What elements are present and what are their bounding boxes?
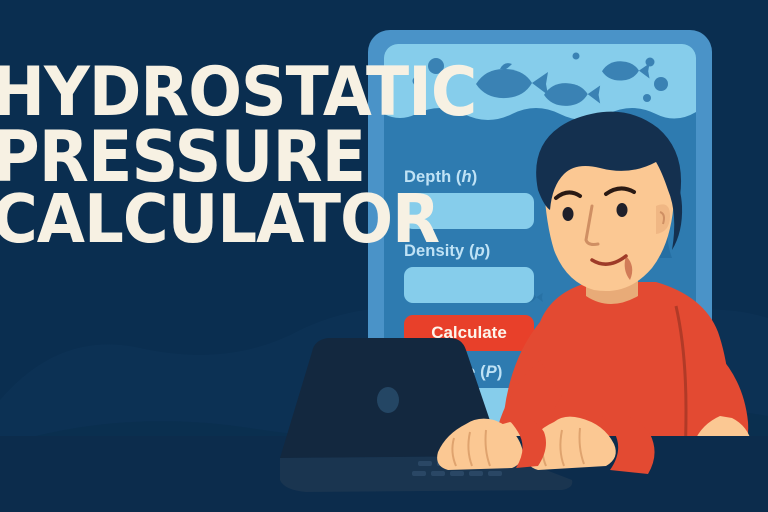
page-title: HYDROSTATIC PRESSURE CALCULATOR: [0, 62, 372, 251]
title-line-3: CALCULATOR: [0, 189, 345, 251]
illustration-canvas: HYDROSTATIC PRESSURE CALCULATOR: [0, 0, 768, 512]
left-hand: [437, 419, 523, 470]
hands-on-keyboard: [420, 408, 680, 493]
laptop-logo-icon: [377, 387, 399, 413]
